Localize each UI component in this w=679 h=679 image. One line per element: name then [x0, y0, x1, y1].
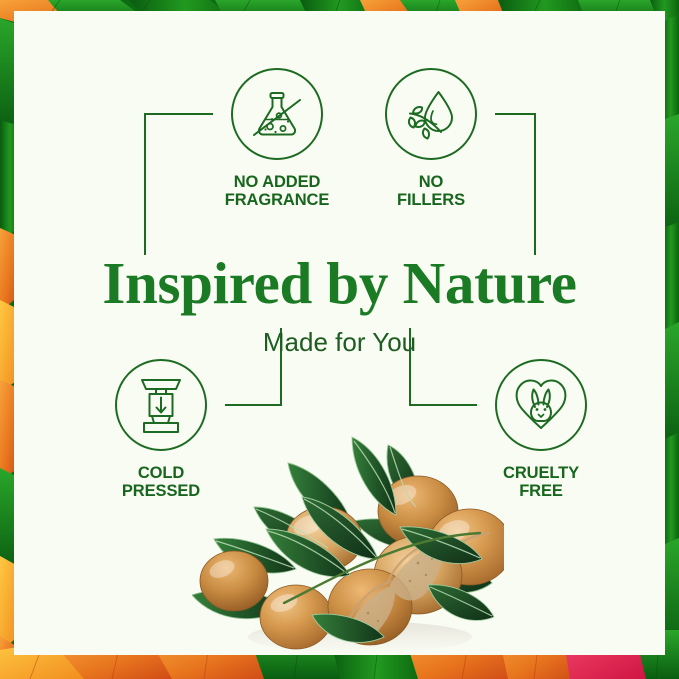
badge-ring — [495, 359, 587, 451]
droplet-leaf-icon — [400, 83, 462, 145]
argan-nuts-image — [192, 435, 504, 657]
argan-nuts-artwork — [192, 435, 504, 657]
rabbit-heart-icon — [509, 374, 573, 436]
page-subtitle: Made for You — [14, 329, 665, 355]
badge-label: NO FILLERS — [366, 173, 496, 210]
page-title: Inspired by Nature — [14, 254, 665, 313]
badge-ring — [385, 68, 477, 160]
badge-no-added-fragrance: NO ADDED FRAGRANCE — [212, 68, 342, 210]
headline-block: Inspired by Nature Made for You — [14, 254, 665, 355]
flask-no-fragrance-icon — [246, 83, 308, 145]
press-machine-icon — [132, 374, 190, 436]
badge-ring — [231, 68, 323, 160]
content-panel: NO ADDED FRAGRANCE — [14, 11, 665, 655]
badge-label: NO ADDED FRAGRANCE — [212, 173, 342, 210]
badge-no-fillers: NO FILLERS — [366, 68, 496, 210]
poster-canvas: NO ADDED FRAGRANCE — [0, 0, 679, 679]
